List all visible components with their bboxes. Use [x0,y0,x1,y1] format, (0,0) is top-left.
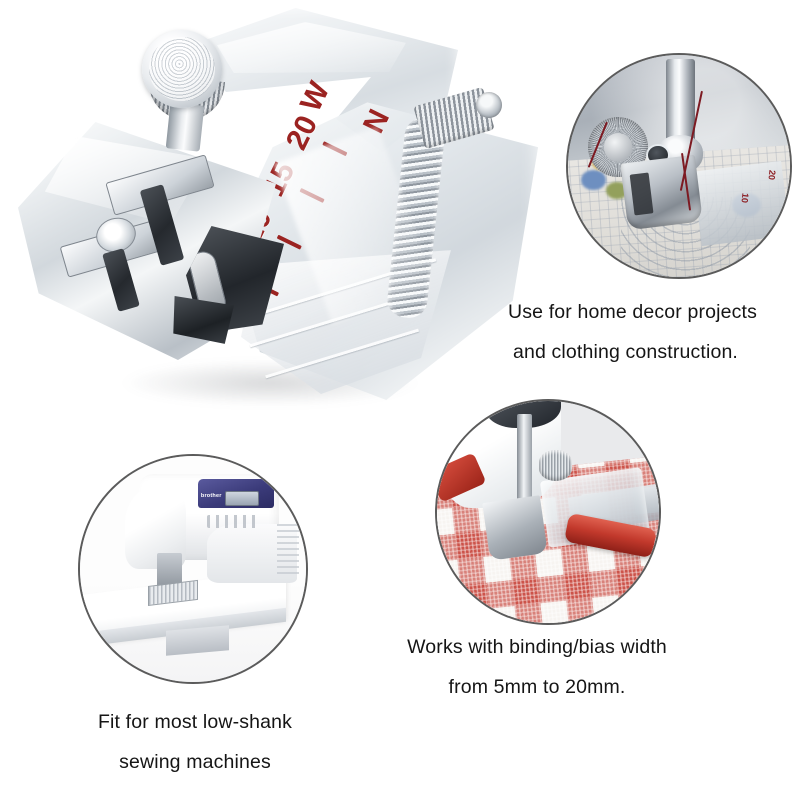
knob-post [166,102,205,151]
machine-lcd-display [225,491,259,506]
caption-home-decor-line1: Use for home decor projects [508,292,757,332]
hero-product-image: 5 10 15 20 W N [0,0,545,455]
binder-foot-metal [620,155,703,230]
gingham-binding-inset [435,399,661,625]
needle-closeup-scene: 20 10 [568,55,790,277]
caption-home-decor-line2: and clothing construction. [508,332,757,372]
extension-table-legs [166,625,229,655]
needle-shank-bar [517,414,533,507]
gingham-binding-scene [437,401,659,623]
sewing-machine-inset: brother [78,454,308,684]
knob-ring-texture [149,37,215,101]
caption-home-decor: Use for home decor projects and clothing… [508,292,757,372]
brother-brand-logo: brother [201,493,222,499]
needle-closeup-inset: 20 10 [566,53,792,279]
mounting-screw [476,92,502,118]
binder-foot-steel [482,495,547,560]
inset-scale-mark-10: 10 [740,192,751,203]
adjustment-knob [142,30,222,108]
inset-scale-mark-20: 20 [766,170,777,181]
caption-low-shank: Fit for most low-shank sewing machines [50,702,340,782]
sewing-machine-scene: brother [80,456,306,682]
binder-adjust-knob [539,450,572,481]
caption-binding-width: Works with binding/bias width from 5mm t… [382,627,692,707]
caption-binding-width-line1: Works with binding/bias width [382,627,692,667]
product-infographic: 5 10 15 20 W N [0,0,800,800]
caption-low-shank-line2: sewing machines [50,742,340,782]
caption-binding-width-line2: from 5mm to 20mm. [382,667,692,707]
machine-button-row [207,515,261,529]
caption-low-shank-line1: Fit for most low-shank [50,702,340,742]
machine-vent [277,524,300,574]
